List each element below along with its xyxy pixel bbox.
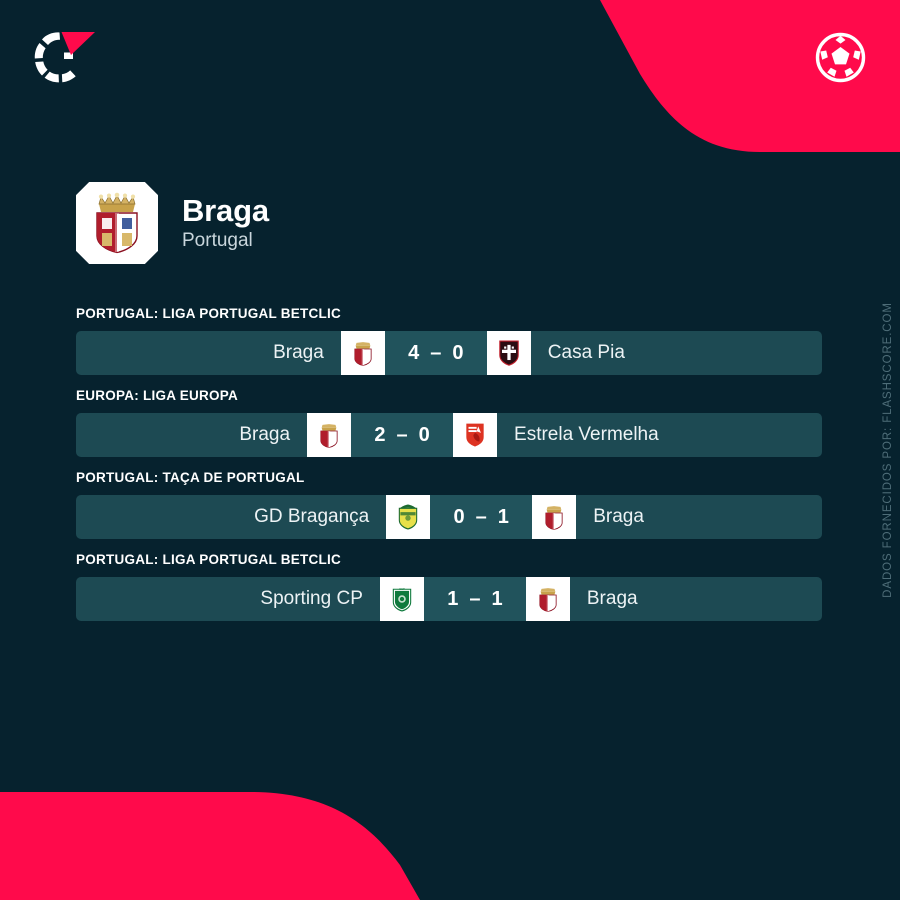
match-score: 1 – 1 <box>424 577 526 621</box>
screenshot-root: Braga Portugal PORTUGAL: LIGA PORTUGAL B… <box>0 0 900 900</box>
football-icon <box>814 31 867 84</box>
home-team-name: GD Bragança <box>76 506 386 528</box>
away-score: 1 <box>491 588 502 611</box>
away-team-name: Estrela Vermelha <box>497 424 822 446</box>
away-team-name: Braga <box>570 588 822 610</box>
league-label: PORTUGAL: TAÇA DE PORTUGAL <box>76 470 822 485</box>
league-label: PORTUGAL: LIGA PORTUGAL BETCLIC <box>76 552 822 567</box>
home-score: 1 <box>447 588 458 611</box>
team-header: Braga Portugal <box>76 182 269 264</box>
match-row[interactable]: Sporting CP SCP 1 – 1 <box>76 577 822 621</box>
match-score: 2 – 0 <box>351 413 453 457</box>
home-team-crest <box>307 413 351 457</box>
team-country: Portugal <box>182 230 269 253</box>
away-team-crest <box>532 495 576 539</box>
home-team-crest <box>386 495 430 539</box>
home-team-crest <box>341 331 385 375</box>
match-score: 0 – 1 <box>430 495 532 539</box>
match-group: PORTUGAL: LIGA PORTUGAL BETCLIC Braga 4 … <box>76 306 822 375</box>
home-score: 0 <box>454 506 465 529</box>
flashscore-logo <box>29 28 101 86</box>
match-row[interactable]: Braga 2 – 0 <box>76 413 822 457</box>
home-team-name: Sporting CP <box>76 588 380 610</box>
away-score: 0 <box>419 424 430 447</box>
braga-crest <box>90 192 144 254</box>
score-dash: – <box>430 342 441 365</box>
away-team-crest <box>453 413 497 457</box>
home-team-name: Braga <box>76 424 307 446</box>
home-team-name: Braga <box>76 342 341 364</box>
home-team-crest: SCP <box>380 577 424 621</box>
match-score: 4 – 0 <box>385 331 487 375</box>
match-row[interactable]: GD Bragança 0 – 1 <box>76 495 822 539</box>
away-score: 0 <box>452 342 463 365</box>
away-team-crest <box>526 577 570 621</box>
away-team-name: Casa Pia <box>531 342 822 364</box>
match-group: PORTUGAL: TAÇA DE PORTUGAL GD Bragança 0… <box>76 470 822 539</box>
team-text: Braga Portugal <box>182 194 269 253</box>
home-score: 2 <box>374 424 385 447</box>
home-score: 4 <box>408 342 419 365</box>
header-red-wave <box>0 0 900 170</box>
matches-list: PORTUGAL: LIGA PORTUGAL BETCLIC Braga 4 … <box>76 306 822 634</box>
team-crest-box <box>76 182 158 264</box>
attribution-text: DADOS FORNECIDOS POR: FLASHSCORE.COM <box>882 302 894 598</box>
page-title: Braga <box>182 194 269 228</box>
match-group: PORTUGAL: LIGA PORTUGAL BETCLIC Sporting… <box>76 552 822 621</box>
score-dash: – <box>396 424 407 447</box>
away-team-name: Braga <box>576 506 822 528</box>
svg-text:SCP: SCP <box>399 587 405 591</box>
away-score: 1 <box>498 506 509 529</box>
match-group: EUROPA: LIGA EUROPA Braga 2 – 0 <box>76 388 822 457</box>
footer-red-wave <box>0 770 900 900</box>
match-row[interactable]: Braga 4 – 0 <box>76 331 822 375</box>
league-label: PORTUGAL: LIGA PORTUGAL BETCLIC <box>76 306 822 321</box>
league-label: EUROPA: LIGA EUROPA <box>76 388 822 403</box>
away-team-crest <box>487 331 531 375</box>
score-dash: – <box>476 506 487 529</box>
score-dash: – <box>469 588 480 611</box>
